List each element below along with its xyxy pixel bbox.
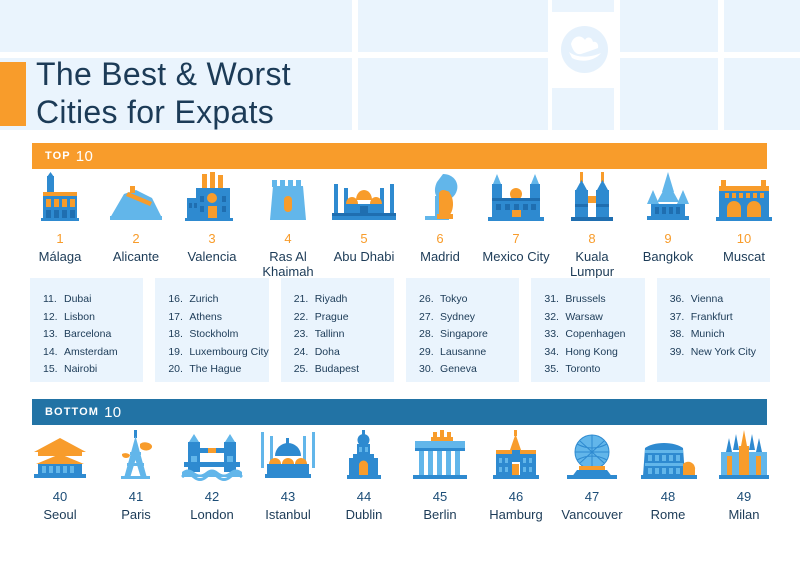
city-name: Vancouver (561, 507, 622, 522)
list-item-rank: 19. (168, 344, 189, 362)
list-item-rank: 24. (294, 344, 315, 362)
list-item-city: New York City (691, 344, 756, 362)
fort-tower-icon (265, 172, 311, 224)
list-item: 32.Warsaw (544, 309, 644, 327)
list-item: 35.Toronto (544, 361, 644, 379)
rank-list-panel: 16.Zurich17.Athens18.Stockholm19.Luxembo… (155, 278, 268, 382)
list-item: 17.Athens (168, 309, 268, 327)
list-item-city: Luxembourg City (189, 344, 268, 362)
petronas-towers-icon (568, 172, 616, 224)
city-rank: 7 (512, 231, 519, 246)
city-card: 46Hamburg (478, 430, 554, 522)
city-name: Alicante (113, 249, 159, 264)
list-item: 19.Luxembourg City (168, 344, 268, 362)
city-rank: 49 (737, 489, 751, 504)
list-item: 12.Lisbon (43, 309, 143, 327)
list-item: 13.Barcelona (43, 326, 143, 344)
list-item-city: Zurich (189, 291, 218, 309)
list-item-city: Toronto (565, 361, 600, 379)
list-item-rank: 33. (544, 326, 565, 344)
city-card: 5Abu Dhabi (326, 172, 402, 279)
list-item-rank: 23. (294, 326, 315, 344)
list-item-city: Doha (315, 344, 340, 362)
page-title-line-1: The Best & Worst (36, 55, 456, 93)
list-item-city: Sydney (440, 309, 475, 327)
list-item-city: Amsterdam (64, 344, 118, 362)
list-item-rank: 28. (419, 326, 440, 344)
list-item: 23.Tallinn (294, 326, 394, 344)
list-item: 16.Zurich (168, 291, 268, 309)
city-name: Abu Dhabi (334, 249, 395, 264)
rank-list-panel: 36.Vienna37.Frankfurt38.Munich39.New Yor… (657, 278, 770, 382)
list-item-rank: 25. (294, 361, 315, 379)
city-card: 40Seoul (22, 430, 98, 522)
list-item-rank: 15. (43, 361, 64, 379)
city-card: 47Vancouver (554, 430, 630, 522)
city-name: Valencia (188, 249, 237, 264)
top-10-section-bar: Top 10 (32, 143, 767, 169)
list-item: 14.Amsterdam (43, 344, 143, 362)
city-rank: 9 (664, 231, 671, 246)
list-item: 20.The Hague (168, 361, 268, 379)
list-item: 37.Frankfurt (670, 309, 770, 327)
list-item: 34.Hong Kong (544, 344, 644, 362)
city-card: 42London (174, 430, 250, 522)
city-name: Málaga (39, 249, 82, 264)
list-item: 15.Nairobi (43, 361, 143, 379)
list-item: 21.Riyadh (294, 291, 394, 309)
city-rank: 1 (56, 231, 63, 246)
city-rank: 8 (588, 231, 595, 246)
list-item-city: Budapest (315, 361, 359, 379)
city-rank: 43 (281, 489, 295, 504)
list-item-city: Singapore (440, 326, 488, 344)
list-item-rank: 27. (419, 309, 440, 327)
list-item: 11.Dubai (43, 291, 143, 309)
city-name: Rome (651, 507, 686, 522)
list-item: 25.Budapest (294, 361, 394, 379)
city-card: 1Málaga (22, 172, 98, 279)
rank-list-panel: 31.Brussels32.Warsaw33.Copenhagen34.Hong… (531, 278, 644, 382)
bear-strawberry-tree-icon (413, 172, 467, 224)
list-item-rank: 11. (43, 291, 64, 309)
list-item-city: Athens (189, 309, 222, 327)
list-item-city: Tallinn (315, 326, 345, 344)
list-item-rank: 34. (544, 344, 565, 362)
rank-list-panel: 11.Dubai12.Lisbon13.Barcelona14.Amsterda… (30, 278, 143, 382)
list-item-city: Warsaw (565, 309, 603, 327)
list-item-city: Lisbon (64, 309, 95, 327)
title-accent-block (0, 62, 26, 126)
city-card: 7Mexico City (478, 172, 554, 279)
city-card: 3Valencia (174, 172, 250, 279)
list-item-city: The Hague (189, 361, 241, 379)
city-name: Seoul (43, 507, 76, 522)
city-rank: 6 (436, 231, 443, 246)
list-item-rank: 35. (544, 361, 565, 379)
list-item: 26.Tokyo (419, 291, 519, 309)
duomo-icon (715, 430, 773, 482)
list-item-rank: 29. (419, 344, 440, 362)
ranked-list-panels: 11.Dubai12.Lisbon13.Barcelona14.Amsterda… (30, 278, 770, 382)
city-name: Milan (728, 507, 759, 522)
list-item-city: Frankfurt (691, 309, 733, 327)
city-card: 49Milan (706, 430, 782, 522)
list-item-city: Dubai (64, 291, 91, 309)
brandenburg-gate-icon (409, 430, 471, 482)
city-name: Istanbul (265, 507, 311, 522)
city-rank: 42 (205, 489, 219, 504)
list-item: 18.Stockholm (168, 326, 268, 344)
city-card: 41Paris (98, 430, 174, 522)
page-title: The Best & Worst Cities for Expats (36, 55, 456, 131)
city-name: Muscat (723, 249, 765, 264)
fort-gate-icon (715, 172, 773, 224)
list-item-rank: 21. (294, 291, 315, 309)
city-rank: 10 (737, 231, 751, 246)
city-rank: 2 (132, 231, 139, 246)
city-name: Dublin (346, 507, 383, 522)
city-card: 43Istanbul (250, 430, 326, 522)
list-item-rank: 13. (43, 326, 64, 344)
city-name: Berlin (423, 507, 456, 522)
rank-list-panel: 21.Riyadh22.Prague23.Tallinn24.Doha25.Bu… (281, 278, 394, 382)
list-item-rank: 37. (670, 309, 691, 327)
tower-bridge-icon (180, 430, 244, 482)
list-item-rank: 26. (419, 291, 440, 309)
page-title-line-2: Cities for Expats (36, 93, 456, 131)
city-card: 48Rome (630, 430, 706, 522)
infographic-page: The Best & Worst Cities for Expats Top 1… (0, 0, 800, 565)
top-10-label: Top (45, 150, 71, 162)
list-item-rank: 38. (670, 326, 691, 344)
bottom-10-city-row: 40Seoul41Paris42London43Istanbul44Dublin… (22, 430, 782, 522)
list-item-city: Nairobi (64, 361, 97, 379)
list-item-city: Prague (315, 309, 349, 327)
list-item-rank: 14. (43, 344, 64, 362)
grand-mosque-icon (328, 172, 400, 224)
list-item: 33.Copenhagen (544, 326, 644, 344)
list-item-rank: 22. (294, 309, 315, 327)
list-item-city: Riyadh (315, 291, 348, 309)
list-item: 36.Vienna (670, 291, 770, 309)
list-item: 30.Geneva (419, 361, 519, 379)
list-item-city: Hong Kong (565, 344, 618, 362)
colosseum-icon (637, 430, 699, 482)
metropolitan-cathedral-icon (483, 172, 549, 224)
list-item-city: Munich (691, 326, 725, 344)
bottom-10-number: 10 (104, 404, 122, 421)
city-card: 6Madrid (402, 172, 478, 279)
city-rank: 46 (509, 489, 523, 504)
city-rank: 48 (661, 489, 675, 504)
list-item-rank: 31. (544, 291, 565, 309)
top-10-number: 10 (76, 148, 94, 165)
list-item: 27.Sydney (419, 309, 519, 327)
city-rank: 47 (585, 489, 599, 504)
city-rank: 45 (433, 489, 447, 504)
list-item: 28.Singapore (419, 326, 519, 344)
logo-circle (551, 16, 618, 83)
list-item-city: Tokyo (440, 291, 467, 309)
city-rank: 40 (53, 489, 67, 504)
list-item: 38.Munich (670, 326, 770, 344)
eiffel-tower-icon (114, 430, 158, 482)
list-item-city: Stockholm (189, 326, 238, 344)
blue-mosque-icon (257, 430, 319, 482)
city-card: 44Dublin (326, 430, 402, 522)
top-10-city-row: 1Málaga2Alicante3Valencia4Ras Al Khaimah… (22, 172, 782, 279)
city-rank: 3 (208, 231, 215, 246)
list-item-rank: 12. (43, 309, 64, 327)
list-item-rank: 18. (168, 326, 189, 344)
city-name: Madrid (420, 249, 460, 264)
city-name: Kuala Lumpur (554, 249, 630, 279)
list-item-rank: 30. (419, 361, 440, 379)
city-card: 8Kuala Lumpur (554, 172, 630, 279)
city-name: Bangkok (643, 249, 694, 264)
rank-list-panel: 26.Tokyo27.Sydney28.Singapore29.Lausanne… (406, 278, 519, 382)
cathedral-icon (33, 172, 87, 224)
list-item-city: Vienna (691, 291, 724, 309)
city-name: Ras Al Khaimah (250, 249, 326, 279)
list-item: 22.Prague (294, 309, 394, 327)
bird-logo-icon (563, 30, 606, 70)
list-item: 39.New York City (670, 344, 770, 362)
list-item-city: Lausanne (440, 344, 486, 362)
city-rank: 44 (357, 489, 371, 504)
basilica-icon (184, 172, 240, 224)
rathaus-icon (488, 430, 544, 482)
list-item-rank: 16. (168, 291, 189, 309)
bottom-10-section-bar: Bottom 10 (32, 399, 767, 425)
list-item-city: Barcelona (64, 326, 111, 344)
city-card: 2Alicante (98, 172, 174, 279)
dublin-castle-icon (339, 430, 389, 482)
list-item-rank: 32. (544, 309, 565, 327)
grand-palace-icon (637, 172, 699, 224)
city-name: Hamburg (489, 507, 542, 522)
city-card: 4Ras Al Khaimah (250, 172, 326, 279)
city-name: London (190, 507, 233, 522)
city-card: 10Muscat (706, 172, 782, 279)
city-rank: 41 (129, 489, 143, 504)
list-item: 29.Lausanne (419, 344, 519, 362)
city-name: Paris (121, 507, 151, 522)
bottom-10-label: Bottom (45, 406, 99, 418)
list-item: 31.Brussels (544, 291, 644, 309)
list-item-rank: 20. (168, 361, 189, 379)
city-rank: 4 (284, 231, 291, 246)
science-world-icon (563, 430, 621, 482)
list-item-city: Copenhagen (565, 326, 625, 344)
castle-hill-icon (106, 172, 166, 224)
city-card: 9Bangkok (630, 172, 706, 279)
list-item-rank: 39. (670, 344, 691, 362)
list-item-rank: 17. (168, 309, 189, 327)
list-item: 24.Doha (294, 344, 394, 362)
city-card: 45Berlin (402, 430, 478, 522)
gyeongbokgung-palace-icon (28, 430, 92, 482)
list-item-city: Geneva (440, 361, 477, 379)
list-item-city: Brussels (565, 291, 605, 309)
list-item-rank: 36. (670, 291, 691, 309)
city-name: Mexico City (482, 249, 549, 264)
city-rank: 5 (360, 231, 367, 246)
